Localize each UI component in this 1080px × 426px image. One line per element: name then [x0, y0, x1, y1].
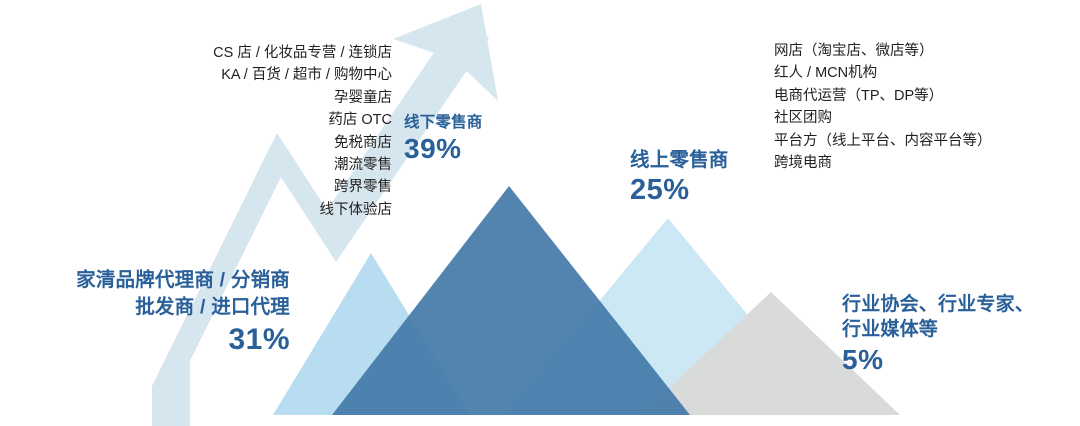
- callout-distributor-percent: 31%: [0, 321, 290, 359]
- callout-online-retailer-label: 线上零售商: [630, 148, 729, 172]
- list-item: KA / 百货 / 超市 / 购物中心: [0, 64, 392, 86]
- callout-offline-retailer-label: 线下零售商: [404, 113, 483, 132]
- list-item: 社区团购: [774, 107, 992, 129]
- list-item: 免税商店: [0, 132, 392, 154]
- list-item: 孕婴童店: [0, 87, 392, 109]
- list-item: 潮流零售: [0, 154, 392, 176]
- callout-offline-retailer: 线下零售商 39%: [404, 113, 483, 164]
- callout-distributor-label-line1: 家清品牌代理商 / 分销商: [0, 267, 290, 294]
- infographic-canvas: CS 店 / 化妆品专营 / 连锁店 KA / 百货 / 超市 / 购物中心 孕…: [0, 0, 1080, 426]
- list-item: CS 店 / 化妆品专营 / 连锁店: [0, 42, 392, 64]
- offline-retail-channel-list: CS 店 / 化妆品专营 / 连锁店 KA / 百货 / 超市 / 购物中心 孕…: [0, 42, 392, 221]
- callout-association: 行业协会、行业专家、 行业媒体等 5%: [842, 293, 1034, 377]
- list-item: 跨境电商: [774, 152, 992, 174]
- callout-online-retailer: 线上零售商 25%: [630, 148, 729, 207]
- callout-association-label-line2: 行业媒体等: [842, 318, 1034, 343]
- list-item: 跨界零售: [0, 176, 392, 198]
- callout-association-percent: 5%: [842, 343, 1034, 377]
- list-item: 药店 OTC: [0, 109, 392, 131]
- list-item: 线下体验店: [0, 199, 392, 221]
- list-item: 红人 / MCN机构: [774, 62, 992, 84]
- callout-distributor: 家清品牌代理商 / 分销商 批发商 / 进口代理 31%: [0, 267, 290, 359]
- list-item: 平台方（线上平台、内容平台等）: [774, 130, 992, 152]
- callout-offline-retailer-percent: 39%: [404, 133, 483, 164]
- callout-distributor-label-line2: 批发商 / 进口代理: [0, 294, 290, 321]
- list-item: 电商代运营（TP、DP等）: [774, 85, 992, 107]
- list-item: 网店（淘宝店、微店等）: [774, 40, 992, 62]
- online-retail-channel-list: 网店（淘宝店、微店等） 红人 / MCN机构 电商代运营（TP、DP等） 社区团…: [774, 40, 992, 174]
- callout-online-retailer-percent: 25%: [630, 174, 729, 207]
- callout-association-label-line1: 行业协会、行业专家、: [842, 293, 1034, 318]
